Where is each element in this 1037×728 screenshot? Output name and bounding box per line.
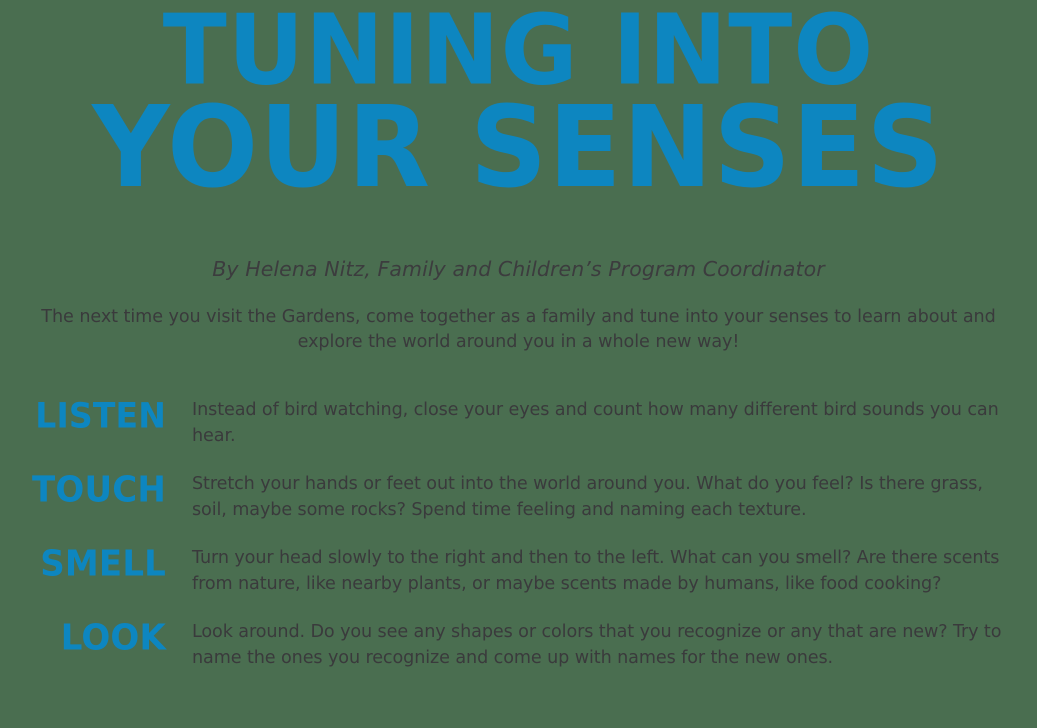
sense-row-look: LOOK Look around. Do you see any shapes … xyxy=(0,620,1037,671)
sense-text-look: Look around. Do you see any shapes or co… xyxy=(166,620,1037,671)
page-title: TUNING INTO YOUR SENSES xyxy=(0,4,1037,196)
sense-row-listen: LISTEN Instead of bird watching, close y… xyxy=(0,398,1037,449)
title-line-2: YOUR SENSES xyxy=(0,94,1037,202)
sense-text-smell: Turn your head slowly to the right and t… xyxy=(166,546,1037,597)
sense-label-look: LOOK xyxy=(0,620,166,656)
sense-text-listen: Instead of bird watching, close your eye… xyxy=(166,398,1037,449)
sense-label-smell: SMELL xyxy=(0,546,166,582)
sense-text-touch: Stretch your hands or feet out into the … xyxy=(166,472,1037,523)
sense-row-touch: TOUCH Stretch your hands or feet out int… xyxy=(0,472,1037,523)
intro-paragraph: The next time you visit the Gardens, com… xyxy=(18,305,1019,355)
senses-list: LISTEN Instead of bird watching, close y… xyxy=(0,396,1037,694)
byline: By Helena Nitz, Family and Children’s Pr… xyxy=(0,257,1037,281)
article-page: TUNING INTO YOUR SENSES By Helena Nitz, … xyxy=(0,0,1037,728)
sense-label-touch: TOUCH xyxy=(0,472,166,508)
sense-label-listen: LISTEN xyxy=(0,398,166,433)
sense-row-smell: SMELL Turn your head slowly to the right… xyxy=(0,546,1037,597)
